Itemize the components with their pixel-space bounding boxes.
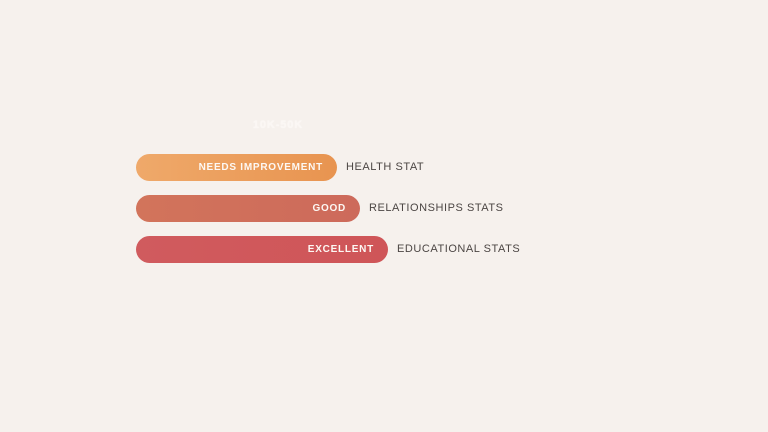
bar-category-label: EDUCATIONAL STATS <box>397 244 520 255</box>
bar-value-label: EXCELLENT <box>308 245 374 255</box>
bar-row: GOOD RELATIONSHIPS STATS <box>136 195 696 222</box>
bar-value-label: NEEDS IMPROVEMENT <box>199 163 323 173</box>
bar-excellent[interactable]: EXCELLENT <box>136 236 388 263</box>
bar-value-label: GOOD <box>312 204 346 214</box>
range-caption: 10K-50K <box>0 119 556 131</box>
bar-category-label: HEALTH STAT <box>346 162 424 173</box>
bar-row: NEEDS IMPROVEMENT HEALTH STAT <box>136 154 696 181</box>
bar-good[interactable]: GOOD <box>136 195 360 222</box>
bar-needs-improvement[interactable]: NEEDS IMPROVEMENT <box>136 154 337 181</box>
bar-category-label: RELATIONSHIPS STATS <box>369 203 504 214</box>
chart-canvas: 10K-50K NEEDS IMPROVEMENT HEALTH STAT GO… <box>0 0 768 432</box>
horizontal-bar-chart: NEEDS IMPROVEMENT HEALTH STAT GOOD RELAT… <box>136 154 696 263</box>
bar-row: EXCELLENT EDUCATIONAL STATS <box>136 236 696 263</box>
